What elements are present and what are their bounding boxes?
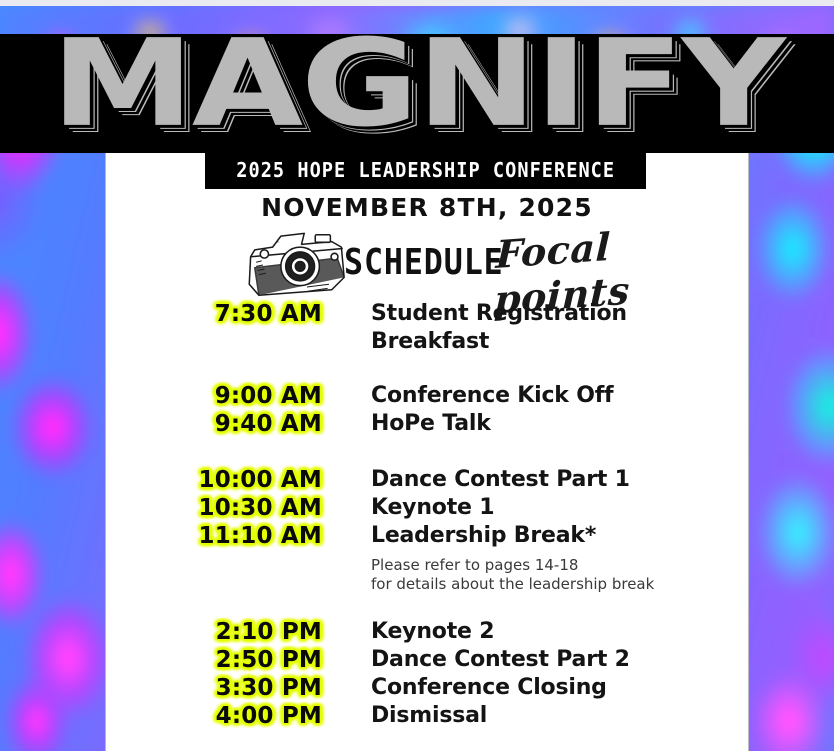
schedule-event: Keynote 1 [371, 494, 494, 522]
schedule-event: Leadership Break* [371, 522, 654, 550]
schedule-row: 10:30 AM Keynote 1 [105, 494, 749, 522]
schedule-time: 11:10 AM [105, 522, 327, 550]
schedule-group: 9:00 AM Conference Kick Off 9:40 AM HoPe… [105, 382, 749, 438]
schedule-row: 2:50 PM Dance Contest Part 2 [105, 646, 749, 674]
schedule-events: Dance Contest Part 2 [327, 646, 630, 674]
schedule-time: 10:00 AM [105, 466, 327, 494]
schedule-row: 9:00 AM Conference Kick Off [105, 382, 749, 410]
schedule-event: Keynote 2 [371, 618, 494, 646]
leadership-break-note-line-1: Please refer to pages 14-18 [371, 556, 654, 575]
schedule-events: Student Registration Breakfast [327, 300, 627, 356]
schedule-event: Student Registration [371, 300, 627, 328]
sub-banner-text: 2025 HOPE LEADERSHIP CONFERENCE [236, 158, 615, 182]
top-edge-strip [0, 0, 834, 6]
schedule-group: 2:10 PM Keynote 2 2:50 PM Dance Contest … [105, 618, 749, 730]
schedule-row: 7:30 AM Student Registration Breakfast [105, 300, 749, 356]
schedule-row: 9:40 AM HoPe Talk [105, 410, 749, 438]
schedule-events: Dance Contest Part 1 [327, 466, 630, 494]
schedule-time: 2:50 PM [105, 646, 327, 674]
schedule-row: 11:10 AM Leadership Break* Please refer … [105, 522, 749, 594]
schedule-row: 10:00 AM Dance Contest Part 1 [105, 466, 749, 494]
schedule-list: 7:30 AM Student Registration Breakfast 9… [105, 300, 749, 751]
schedule-events: Keynote 1 [327, 494, 494, 522]
schedule-events: Leadership Break* Please refer to pages … [327, 522, 654, 594]
logo-black-band [0, 34, 834, 153]
schedule-events: Keynote 2 [327, 618, 494, 646]
schedule-row: 4:00 PM Dismissal [105, 702, 749, 730]
sub-banner: 2025 HOPE LEADERSHIP CONFERENCE [205, 150, 646, 189]
schedule-time: 2:10 PM [105, 618, 327, 646]
schedule-event: Dismissal [371, 702, 487, 730]
schedule-events: Dismissal [327, 702, 487, 730]
camera-icon [241, 226, 351, 304]
schedule-event: Dance Contest Part 1 [371, 466, 630, 494]
schedule-events: HoPe Talk [327, 410, 491, 438]
schedule-row: 3:30 PM Conference Closing [105, 674, 749, 702]
schedule-event: Dance Contest Part 2 [371, 646, 630, 674]
schedule-time: 9:40 AM [105, 410, 327, 438]
schedule-heading: SCHEDULE [344, 242, 504, 283]
schedule-event: HoPe Talk [371, 410, 491, 438]
conference-schedule-poster: MAGNIFY 2025 HOPE LEADERSHIP CONFERENCE … [0, 0, 834, 751]
schedule-group: 10:00 AM Dance Contest Part 1 10:30 AM K… [105, 466, 749, 594]
schedule-event: Breakfast [371, 328, 627, 356]
schedule-event: Conference Closing [371, 674, 607, 702]
schedule-group: 7:30 AM Student Registration Breakfast [105, 300, 749, 356]
schedule-time: 4:00 PM [105, 702, 327, 730]
leadership-break-note-line-2: for details about the leadership break [371, 575, 654, 594]
schedule-time: 9:00 AM [105, 382, 327, 410]
schedule-event: Conference Kick Off [371, 382, 613, 410]
schedule-title-row: SCHEDULE Focal points [105, 222, 749, 302]
schedule-row: 2:10 PM Keynote 2 [105, 618, 749, 646]
schedule-events: Conference Kick Off [327, 382, 613, 410]
schedule-time: 3:30 PM [105, 674, 327, 702]
schedule-time: 10:30 AM [105, 494, 327, 522]
schedule-events: Conference Closing [327, 674, 607, 702]
schedule-time: 7:30 AM [105, 300, 327, 328]
event-date: NOVEMBER 8TH, 2025 [105, 193, 749, 222]
